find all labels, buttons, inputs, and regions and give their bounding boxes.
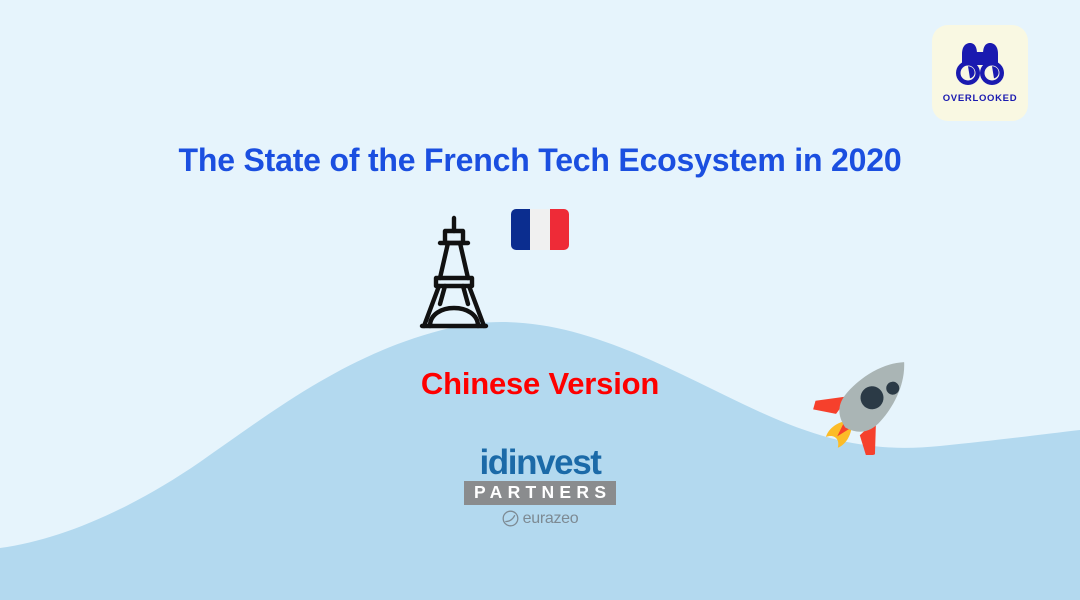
overlooked-brand-badge[interactable]: OVERLOOKED — [932, 25, 1028, 121]
eurazeo-logo-icon — [502, 510, 519, 527]
overlooked-brand-label: OVERLOOKED — [943, 93, 1018, 104]
sponsor-logo[interactable]: idinvest PARTNERS eurazeo — [0, 446, 1080, 528]
parent-company-lockup: eurazeo — [502, 510, 579, 528]
sponsor-name-primary: idinvest — [479, 446, 600, 479]
flag-stripe-white — [530, 209, 549, 250]
flag-stripe-blue — [511, 209, 530, 250]
presentation-slide: OVERLOOKED The State of the French Tech … — [0, 0, 1080, 600]
french-flag-icon — [511, 209, 569, 250]
binoculars-icon — [952, 42, 1008, 90]
eiffel-tower-icon — [412, 214, 496, 332]
sponsor-name-secondary: PARTNERS — [464, 481, 617, 504]
page-title: The State of the French Tech Ecosystem i… — [0, 142, 1080, 179]
parent-company-label: eurazeo — [523, 510, 579, 528]
rocket-icon — [800, 345, 940, 455]
flag-stripe-red — [550, 209, 569, 250]
